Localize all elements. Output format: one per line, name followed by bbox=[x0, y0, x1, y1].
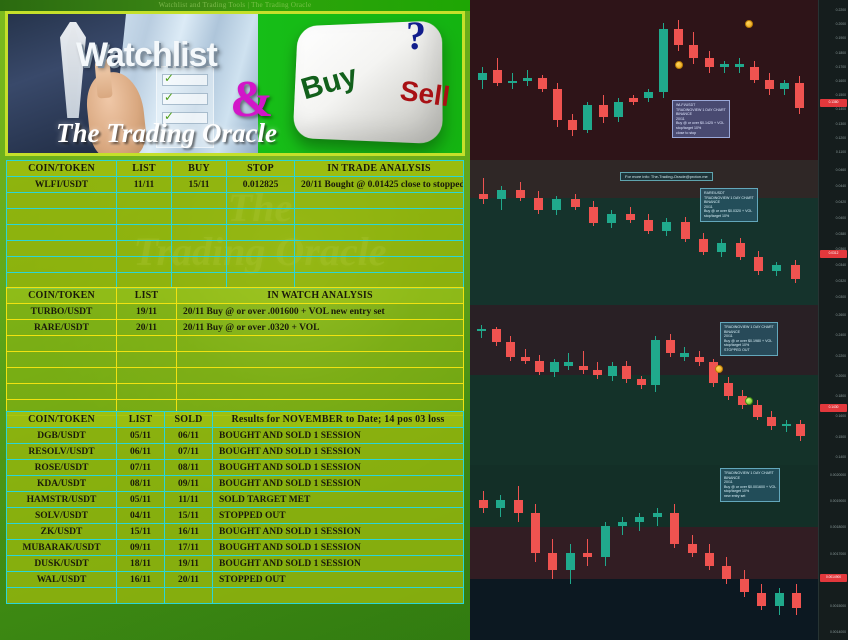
cell-list: 11/11 bbox=[117, 177, 172, 193]
sell-label: Sell bbox=[398, 75, 452, 114]
cell-list: 05/11 bbox=[117, 492, 165, 508]
empty-cell bbox=[7, 352, 117, 368]
candle-body bbox=[651, 340, 660, 385]
empty-cell bbox=[117, 241, 172, 257]
axis-tick-label: 0.0300 bbox=[836, 295, 846, 299]
candle-body bbox=[566, 553, 575, 571]
candle-body bbox=[695, 357, 704, 363]
empty-cell bbox=[213, 588, 464, 604]
candle-body bbox=[782, 424, 791, 426]
in-watch-empty-row bbox=[7, 352, 464, 368]
results-row: HAMSTR/USDT05/1111/11SOLD TARGET MET bbox=[7, 492, 464, 508]
axis-tick-label: 0.1400 bbox=[836, 455, 846, 459]
cell-sold: 07/11 bbox=[165, 444, 213, 460]
axis-tick-label: 0.0017000 bbox=[830, 552, 846, 556]
cell-sold: 19/11 bbox=[165, 556, 213, 572]
empty-cell bbox=[172, 241, 227, 257]
candle-body bbox=[492, 329, 501, 342]
chart-zone-band bbox=[470, 527, 818, 579]
axis-tick-label: 0.0460 bbox=[836, 168, 846, 172]
charts-panel: 0.22000.20000.19000.18000.17000.16000.15… bbox=[470, 0, 848, 640]
empty-cell bbox=[295, 225, 464, 241]
watchlist-banner: ? Buy Sell Watchlist & The Trading Oracl… bbox=[5, 11, 465, 156]
current-price-label: 0.0014900 bbox=[820, 574, 847, 582]
empty-cell bbox=[7, 209, 117, 225]
price-axis-rare: 0.04600.04400.04200.04000.03800.03600.03… bbox=[818, 160, 848, 305]
empty-cell bbox=[295, 241, 464, 257]
axis-tick-label: 0.1600 bbox=[836, 414, 846, 418]
cell-list: 15/11 bbox=[117, 524, 165, 540]
cell-list: 06/11 bbox=[117, 444, 165, 460]
empty-cell bbox=[172, 193, 227, 209]
banner-tagline: The Trading Oracle bbox=[56, 118, 277, 149]
signal-dot-icon bbox=[745, 20, 753, 28]
axis-tick-label: 0.1800 bbox=[836, 51, 846, 55]
empty-cell bbox=[227, 241, 295, 257]
cell-result: BOUGHT AND SOLD 1 SESSION bbox=[213, 556, 464, 572]
in-watch-row: RARE/USDT20/1120/11 Buy @ or over .0320 … bbox=[7, 320, 464, 336]
empty-cell bbox=[295, 193, 464, 209]
chart-note-rare: RARE/USDTTRADINGVIEW 1 DAY CHARTBINANCE2… bbox=[700, 188, 758, 222]
price-axis-wal: 0.26000.24000.22000.20000.18000.16000.15… bbox=[818, 305, 848, 465]
cell-coin: RARE/USDT bbox=[7, 320, 117, 336]
empty-cell bbox=[177, 384, 464, 400]
axis-tick-label: 0.0014000 bbox=[830, 630, 846, 634]
axis-tick-label: 0.1400 bbox=[836, 107, 846, 111]
candle-wick bbox=[622, 517, 623, 535]
axis-tick-label: 0.1300 bbox=[836, 122, 846, 126]
candle-body bbox=[688, 544, 697, 553]
cell-sold: 09/11 bbox=[165, 476, 213, 492]
candle-body bbox=[680, 353, 689, 357]
cell-result: BOUGHT AND SOLD 1 SESSION bbox=[213, 460, 464, 476]
results-row: WAL/USDT16/1120/11STOPPED OUT bbox=[7, 572, 464, 588]
cell-sold: 11/11 bbox=[165, 492, 213, 508]
price-axis-wlfi: 0.22000.20000.19000.18000.17000.16000.15… bbox=[818, 0, 848, 160]
candle-body bbox=[534, 198, 543, 211]
cell-result: BOUGHT AND SOLD 1 SESSION bbox=[213, 476, 464, 492]
cell-coin: TURBO/USDT bbox=[7, 304, 117, 320]
axis-tick-label: 0.0018000 bbox=[830, 525, 846, 529]
chart-note-wlfi: WLFI/USDTTRADINGVIEW 1 DAY CHARTBINANCE2… bbox=[672, 100, 730, 138]
candle-body bbox=[674, 29, 683, 45]
candle-body bbox=[622, 366, 631, 379]
cell-coin: KDA/USDT bbox=[7, 476, 117, 492]
empty-cell bbox=[117, 257, 172, 273]
candle-body bbox=[740, 579, 749, 592]
cell-sold: 20/11 bbox=[165, 572, 213, 588]
question-mark-label: ? bbox=[406, 12, 426, 59]
col-coin: COIN/TOKEN bbox=[7, 412, 117, 428]
candle-body bbox=[608, 366, 617, 375]
chart-plot-wlfi[interactable] bbox=[470, 0, 818, 160]
watchlist-panel: Watchlist and Trading Tools | The Tradin… bbox=[0, 0, 470, 640]
candle-body bbox=[550, 362, 559, 371]
axis-tick-label: 0.0420 bbox=[836, 200, 846, 204]
col-buy: BUY bbox=[172, 161, 227, 177]
axis-tick-label: 0.1700 bbox=[836, 65, 846, 69]
current-price-label: 0.0312 bbox=[820, 250, 847, 258]
axis-tick-label: 0.1500 bbox=[836, 435, 846, 439]
candle-body bbox=[795, 83, 804, 108]
candle-body bbox=[583, 105, 592, 130]
axis-tick-label: 0.2400 bbox=[836, 333, 846, 337]
candle-body bbox=[720, 64, 729, 67]
trading-watchlist-page: Watchlist and Trading Tools | The Tradin… bbox=[0, 0, 848, 640]
candle-body bbox=[516, 190, 525, 198]
candle-body bbox=[765, 80, 774, 89]
cell-buy: 15/11 bbox=[172, 177, 227, 193]
signal-dot-icon bbox=[675, 61, 683, 69]
chart-note-wal: TRADINGVIEW 1 DAY CHARTBINANCE20/11Buy @… bbox=[720, 322, 778, 356]
candle-body bbox=[662, 222, 671, 232]
cell-result: STOPPED OUT bbox=[213, 508, 464, 524]
axis-tick-label: 0.1900 bbox=[836, 36, 846, 40]
candle-body bbox=[564, 362, 573, 366]
axis-tick-label: 0.0340 bbox=[836, 263, 846, 267]
axis-tick-label: 0.2200 bbox=[836, 354, 846, 358]
in-trade-empty-row bbox=[7, 225, 464, 241]
candle-wick bbox=[481, 325, 482, 338]
candle-body bbox=[736, 243, 745, 257]
results-empty-row bbox=[7, 588, 464, 604]
chart-panel-turbo[interactable]: 0.00200000.00190000.00180000.00170000.00… bbox=[470, 465, 848, 640]
candle-body bbox=[593, 370, 602, 376]
axis-tick-label: 0.0020000 bbox=[830, 473, 846, 477]
col-stop: STOP bbox=[227, 161, 295, 177]
cell-sold: 06/11 bbox=[165, 428, 213, 444]
cell-analysis: 20/11 Buy @ or over .001600 + VOL new en… bbox=[177, 304, 464, 320]
banner-title: Watchlist bbox=[76, 36, 256, 75]
axis-tick-label: 0.0019000 bbox=[830, 499, 846, 503]
chart-zone-band bbox=[470, 375, 818, 465]
cell-result: BOUGHT AND SOLD 1 SESSION bbox=[213, 540, 464, 556]
cell-result: SOLD TARGET MET bbox=[213, 492, 464, 508]
cell-list: 04/11 bbox=[117, 508, 165, 524]
candle-body bbox=[753, 405, 762, 416]
candle-wick bbox=[657, 508, 658, 526]
results-row: DGB/USDT05/1106/11BOUGHT AND SOLD 1 SESS… bbox=[7, 428, 464, 444]
note-line: TRADINGVIEW 1 DAY CHART bbox=[724, 325, 774, 330]
chart-panel-rare[interactable]: 0.04600.04400.04200.04000.03800.03600.03… bbox=[470, 160, 848, 305]
axis-tick-label: 0.0380 bbox=[836, 232, 846, 236]
candle-body bbox=[568, 120, 577, 129]
cell-sold: 16/11 bbox=[165, 524, 213, 540]
cell-analysis: 20/11 Buy @ or over .0320 + VOL bbox=[177, 320, 464, 336]
empty-cell bbox=[227, 225, 295, 241]
col-sold: SOLD bbox=[165, 412, 213, 428]
empty-cell bbox=[227, 257, 295, 273]
axis-tick-label: 0.1200 bbox=[836, 136, 846, 140]
empty-cell bbox=[7, 225, 117, 241]
cell-sold: 08/11 bbox=[165, 460, 213, 476]
cell-stop: 0.012825 bbox=[227, 177, 295, 193]
candle-body bbox=[629, 98, 638, 101]
candle-body bbox=[670, 513, 679, 544]
candle-body bbox=[589, 207, 598, 223]
candle-body bbox=[717, 243, 726, 253]
candle-body bbox=[479, 194, 488, 199]
candle-body bbox=[653, 513, 662, 517]
candle-body bbox=[681, 222, 690, 240]
candle-wick bbox=[639, 513, 640, 531]
cell-coin: ZK/USDT bbox=[7, 524, 117, 540]
note-line: new entry set bbox=[724, 494, 776, 499]
candle-body bbox=[705, 58, 714, 67]
candle-body bbox=[635, 517, 644, 521]
candle-wick bbox=[583, 351, 584, 373]
cell-coin: WAL/USDT bbox=[7, 572, 117, 588]
in-watch-header-row: COIN/TOKENLISTIN WATCH ANALYSIS bbox=[7, 288, 464, 304]
cell-list: 20/11 bbox=[117, 320, 177, 336]
top-strip: Watchlist and Trading Tools | The Tradin… bbox=[0, 0, 470, 11]
empty-cell bbox=[117, 193, 172, 209]
candle-body bbox=[508, 81, 517, 83]
candle-body bbox=[552, 199, 561, 210]
in-watch-table: COIN/TOKENLISTIN WATCH ANALYSIS TURBO/US… bbox=[6, 287, 464, 416]
candle-body bbox=[538, 78, 547, 89]
note-line: STOPPED OUT bbox=[724, 348, 774, 353]
candle-body bbox=[571, 199, 580, 207]
candle-body bbox=[780, 83, 789, 89]
in-watch-empty-row bbox=[7, 368, 464, 384]
candle-body bbox=[724, 383, 733, 396]
candle-body bbox=[493, 70, 502, 83]
cell-list: 16/11 bbox=[117, 572, 165, 588]
chart-zone-band bbox=[470, 579, 818, 640]
candle-body bbox=[644, 220, 653, 231]
results-header-row: COIN/TOKENLISTSOLDResults for NOVEMBER t… bbox=[7, 412, 464, 428]
in-trade-empty-row bbox=[7, 209, 464, 225]
empty-cell bbox=[117, 384, 177, 400]
candle-body bbox=[479, 500, 488, 509]
candle-body bbox=[705, 553, 714, 566]
candle-body bbox=[791, 265, 800, 279]
candle-body bbox=[478, 73, 487, 79]
results-row: DUSK/USDT18/1119/11BOUGHT AND SOLD 1 SES… bbox=[7, 556, 464, 572]
candle-body bbox=[750, 67, 759, 80]
col-watch-analysis: IN WATCH ANALYSIS bbox=[177, 288, 464, 304]
candle-body bbox=[775, 593, 784, 606]
empty-cell bbox=[7, 336, 117, 352]
axis-tick-label: 0.0015000 bbox=[830, 604, 846, 608]
cell-coin: ROSE/USDT bbox=[7, 460, 117, 476]
candle-body bbox=[626, 214, 635, 220]
price-axis-turbo: 0.00200000.00190000.00180000.00170000.00… bbox=[818, 465, 848, 640]
col-list: LIST bbox=[117, 288, 177, 304]
empty-cell bbox=[295, 257, 464, 273]
candle-body bbox=[497, 190, 506, 200]
candle-body bbox=[792, 593, 801, 608]
cell-list: 08/11 bbox=[117, 476, 165, 492]
empty-cell bbox=[7, 193, 117, 209]
candle-body bbox=[689, 45, 698, 58]
top-strip-text: Watchlist and Trading Tools | The Tradin… bbox=[0, 0, 470, 11]
empty-cell bbox=[227, 193, 295, 209]
axis-tick-label: 0.0320 bbox=[836, 279, 846, 283]
results-table: COIN/TOKENLISTSOLDResults for NOVEMBER t… bbox=[6, 411, 464, 604]
in-trade-empty-row bbox=[7, 257, 464, 273]
axis-tick-label: 0.2000 bbox=[836, 374, 846, 378]
candle-body bbox=[531, 513, 540, 553]
candle-body bbox=[477, 329, 486, 331]
cell-result: STOPPED OUT bbox=[213, 572, 464, 588]
col-results: Results for NOVEMBER to Date; 14 pos 03 … bbox=[213, 412, 464, 428]
in-trade-row: WLFI/USDT11/1115/110.01282520/11 Bought … bbox=[7, 177, 464, 193]
candle-body bbox=[722, 566, 731, 579]
candle-body bbox=[796, 424, 805, 436]
cell-list: 19/11 bbox=[117, 304, 177, 320]
candle-body bbox=[553, 89, 562, 120]
results-row: MUBARAK/USDT09/1117/11BOUGHT AND SOLD 1 … bbox=[7, 540, 464, 556]
cell-coin: MUBARAK/USDT bbox=[7, 540, 117, 556]
empty-cell bbox=[117, 225, 172, 241]
empty-cell bbox=[295, 209, 464, 225]
col-analysis: IN TRADE ANALYSIS bbox=[295, 161, 464, 177]
in-trade-empty-row bbox=[7, 241, 464, 257]
note-line: close to stop bbox=[676, 131, 726, 136]
chart-panel-wlfi[interactable]: 0.22000.20000.19000.18000.17000.16000.15… bbox=[470, 0, 848, 160]
signal-dot-icon bbox=[715, 365, 723, 373]
cell-result: BOUGHT AND SOLD 1 SESSION bbox=[213, 524, 464, 540]
cell-coin: WLFI/USDT bbox=[7, 177, 117, 193]
col-list: LIST bbox=[117, 412, 165, 428]
chart-note-turbo: TRADINGVIEW 1 DAY CHARTBINANCE20/11Buy @… bbox=[720, 468, 780, 502]
candle-body bbox=[699, 239, 708, 252]
note-line: TRADINGVIEW 1 DAY CHART bbox=[724, 471, 776, 476]
cell-list: 07/11 bbox=[117, 460, 165, 476]
in-trade-empty-row bbox=[7, 193, 464, 209]
candle-body bbox=[754, 257, 763, 271]
axis-tick-label: 0.2000 bbox=[836, 22, 846, 26]
empty-cell bbox=[117, 368, 177, 384]
results-row: RESOLV/USDT06/1107/11BOUGHT AND SOLD 1 S… bbox=[7, 444, 464, 460]
empty-cell bbox=[7, 384, 117, 400]
col-coin: COIN/TOKEN bbox=[7, 288, 117, 304]
in-trade-table: COIN/TOKENLISTBUYSTOPIN TRADE ANALYSIS W… bbox=[6, 160, 464, 289]
axis-tick-label: 0.1100 bbox=[836, 150, 846, 154]
axis-tick-label: 0.1500 bbox=[836, 93, 846, 97]
candle-body bbox=[514, 500, 523, 513]
in-watch-empty-row bbox=[7, 336, 464, 352]
candle-body bbox=[618, 522, 627, 526]
col-list: LIST bbox=[117, 161, 172, 177]
cell-list: 05/11 bbox=[117, 428, 165, 444]
current-price-label: 0.1430 bbox=[820, 404, 847, 412]
candle-body bbox=[521, 357, 530, 361]
empty-cell bbox=[7, 257, 117, 273]
candle-body bbox=[735, 64, 744, 67]
candle-body bbox=[644, 92, 653, 98]
candle-wick bbox=[724, 61, 725, 74]
empty-cell bbox=[117, 336, 177, 352]
empty-cell bbox=[227, 209, 295, 225]
axis-tick-label: 0.1600 bbox=[836, 79, 846, 83]
results-row: ZK/USDT15/1116/11BOUGHT AND SOLD 1 SESSI… bbox=[7, 524, 464, 540]
empty-cell bbox=[7, 588, 117, 604]
results-row: KDA/USDT08/1109/11BOUGHT AND SOLD 1 SESS… bbox=[7, 476, 464, 492]
in-watch-row: TURBO/USDT19/1120/11 Buy @ or over .0016… bbox=[7, 304, 464, 320]
cell-coin: DGB/USDT bbox=[7, 428, 117, 444]
cell-sold: 15/11 bbox=[165, 508, 213, 524]
cell-coin: DUSK/USDT bbox=[7, 556, 117, 572]
empty-cell bbox=[177, 352, 464, 368]
candle-body bbox=[506, 342, 515, 357]
results-row: SOLV/USDT04/1115/11STOPPED OUT bbox=[7, 508, 464, 524]
candle-body bbox=[601, 526, 610, 557]
current-price-label: 0.1380 bbox=[820, 99, 847, 107]
note-line: stop/target 10% bbox=[704, 214, 754, 219]
candle-body bbox=[535, 361, 544, 372]
empty-cell bbox=[7, 241, 117, 257]
candle-body bbox=[607, 214, 616, 224]
candle-body bbox=[548, 553, 557, 571]
candle-wick bbox=[483, 178, 484, 204]
empty-cell bbox=[165, 588, 213, 604]
empty-cell bbox=[172, 225, 227, 241]
cell-result: BOUGHT AND SOLD 1 SESSION bbox=[213, 444, 464, 460]
candle-body bbox=[579, 366, 588, 370]
axis-tick-label: 0.0400 bbox=[836, 216, 846, 220]
candle-body bbox=[767, 417, 776, 426]
empty-cell bbox=[177, 368, 464, 384]
candle-wick bbox=[786, 420, 787, 431]
empty-cell bbox=[117, 352, 177, 368]
empty-cell bbox=[172, 209, 227, 225]
candle-body bbox=[523, 78, 532, 81]
candle-body bbox=[772, 265, 781, 271]
axis-tick-label: 0.1800 bbox=[836, 394, 846, 398]
empty-cell bbox=[117, 209, 172, 225]
cell-result: BOUGHT AND SOLD 1 SESSION bbox=[213, 428, 464, 444]
candle-body bbox=[583, 553, 592, 557]
in-trade-header-row: COIN/TOKENLISTBUYSTOPIN TRADE ANALYSIS bbox=[7, 161, 464, 177]
axis-tick-label: 0.2200 bbox=[836, 8, 846, 12]
contact-banner: For more info: The-Trading-Oracle@proton… bbox=[620, 172, 713, 181]
candle-body bbox=[496, 500, 505, 509]
cell-coin: SOLV/USDT bbox=[7, 508, 117, 524]
candle-body bbox=[757, 593, 766, 606]
signal-dot-green-icon bbox=[745, 397, 753, 405]
candle-body bbox=[599, 105, 608, 118]
in-watch-empty-row bbox=[7, 384, 464, 400]
empty-cell bbox=[117, 588, 165, 604]
candle-body bbox=[614, 102, 623, 118]
col-coin: COIN/TOKEN bbox=[7, 161, 117, 177]
cell-list: 09/11 bbox=[117, 540, 165, 556]
cell-coin: HAMSTR/USDT bbox=[7, 492, 117, 508]
candle-body bbox=[637, 379, 646, 385]
chart-plot-rare[interactable] bbox=[470, 160, 818, 305]
candle-body bbox=[666, 340, 675, 353]
axis-tick-label: 0.0440 bbox=[836, 184, 846, 188]
cell-coin: RESOLV/USDT bbox=[7, 444, 117, 460]
empty-cell bbox=[7, 368, 117, 384]
cell-analysis: 20/11 Bought @ 0.01425 close to stopped … bbox=[295, 177, 464, 193]
candle-body bbox=[659, 29, 668, 92]
chart-panel-wal[interactable]: 0.26000.24000.22000.20000.18000.16000.15… bbox=[470, 305, 848, 465]
empty-cell bbox=[172, 257, 227, 273]
axis-tick-label: 0.2600 bbox=[836, 313, 846, 317]
results-row: ROSE/USDT07/1108/11BOUGHT AND SOLD 1 SES… bbox=[7, 460, 464, 476]
cell-sold: 17/11 bbox=[165, 540, 213, 556]
empty-cell bbox=[177, 336, 464, 352]
cell-list: 18/11 bbox=[117, 556, 165, 572]
